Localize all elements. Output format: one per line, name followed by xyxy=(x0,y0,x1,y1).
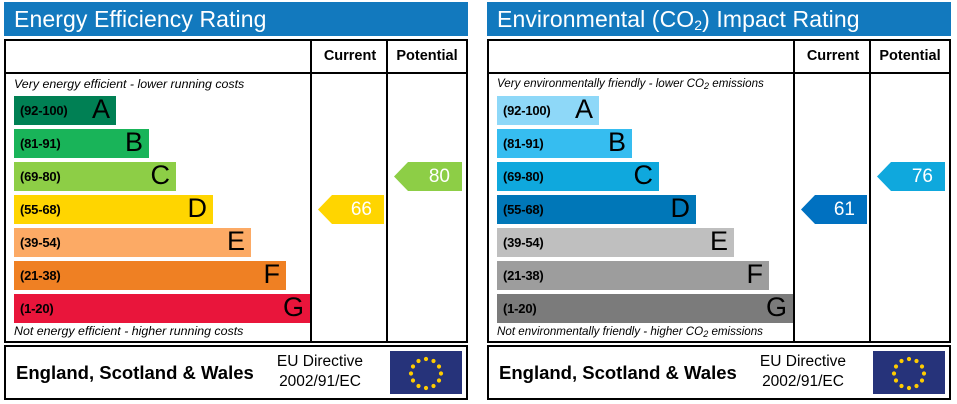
energy-efficiency-grid: Current Potential Very energy efficient … xyxy=(4,39,468,343)
band-letter-f: F xyxy=(747,261,764,291)
caption-very-efficient: Very energy efficient - lower running co… xyxy=(14,77,244,91)
band-row-f: (21-38) F xyxy=(14,261,286,290)
column-header-current: Current xyxy=(795,41,871,72)
band-row-g: (1-20) G xyxy=(497,294,793,323)
band-letter-g: G xyxy=(283,294,304,324)
band-row-e: (39-54) E xyxy=(14,228,251,257)
band-row-g: (1-20) G xyxy=(14,294,310,323)
column-header-current: Current xyxy=(312,41,388,72)
band-letter-e: E xyxy=(227,228,245,258)
column-divider-2 xyxy=(386,41,388,341)
panel-title-subscript: 2 xyxy=(694,17,702,33)
current-rating-value: 61 xyxy=(834,199,855,221)
band-letter-b: B xyxy=(125,129,143,159)
footer-directive-label: EU Directive 2002/91/EC xyxy=(260,352,380,392)
caption-very-friendly: Very environmentally friendly - lower CO… xyxy=(497,77,764,90)
band-row-e: (39-54) E xyxy=(497,228,734,257)
eu-flag-icon xyxy=(873,351,945,394)
environmental-impact-footer: England, Scotland & Wales EU Directive 2… xyxy=(487,345,951,400)
band-range-a: (92-100) xyxy=(503,103,551,118)
environmental-band-list: Very environmentally friendly - lower CO… xyxy=(489,74,793,341)
band-row-d: (55-68) D xyxy=(497,195,696,224)
potential-rating-arrow: 76 xyxy=(877,162,945,191)
band-range-d: (55-68) xyxy=(20,202,61,217)
column-header-potential: Potential xyxy=(388,41,466,72)
band-range-c: (69-80) xyxy=(20,169,61,184)
band-range-b: (81-91) xyxy=(20,136,61,151)
column-header-row: Current Potential xyxy=(6,41,466,74)
band-row-b: (81-91) B xyxy=(14,129,149,158)
band-row-f: (21-38) F xyxy=(497,261,769,290)
footer-directive-line1: EU Directive xyxy=(260,352,380,372)
current-rating-arrow: 61 xyxy=(801,195,867,224)
epc-certificate-graphic: Energy Efficiency Rating Current Potenti… xyxy=(0,0,957,404)
caption-top-subscript: 2 xyxy=(704,81,709,91)
current-rating-value: 66 xyxy=(351,199,372,221)
panel-title-text: Energy Efficiency Rating xyxy=(14,6,267,32)
footer-directive-line2: 2002/91/EC xyxy=(743,372,863,392)
energy-band-list: Very energy efficient - lower running co… xyxy=(6,74,310,341)
band-range-g: (1-20) xyxy=(20,301,53,316)
band-letter-d: D xyxy=(188,195,208,225)
band-row-d: (55-68) D xyxy=(14,195,213,224)
band-row-a: (92-100) A xyxy=(497,96,599,125)
footer-region-label: England, Scotland & Wales xyxy=(499,347,737,398)
band-range-g: (1-20) xyxy=(503,301,536,316)
current-rating-arrow: 66 xyxy=(318,195,384,224)
caption-not-friendly: Not environmentally friendly - higher CO… xyxy=(497,325,763,338)
band-range-b: (81-91) xyxy=(503,136,544,151)
energy-efficiency-footer: England, Scotland & Wales EU Directive 2… xyxy=(4,345,468,400)
band-range-e: (39-54) xyxy=(503,235,544,250)
caption-bottom-tail: emissions xyxy=(708,325,763,338)
caption-bottom-text: Not environmentally friendly - higher CO xyxy=(497,325,703,338)
eu-flag-icon xyxy=(390,351,462,394)
column-divider-1 xyxy=(310,41,312,341)
band-letter-c: C xyxy=(634,162,654,192)
environmental-impact-panel: Environmental (CO2) Impact Rating Curren… xyxy=(483,0,955,404)
environmental-impact-grid: Current Potential Very environmentally f… xyxy=(487,39,951,343)
band-row-a: (92-100) A xyxy=(14,96,116,125)
band-letter-c: C xyxy=(151,162,171,192)
column-header-potential: Potential xyxy=(871,41,949,72)
caption-bottom-subscript: 2 xyxy=(703,329,708,339)
caption-top-text: Very environmentally friendly - lower CO xyxy=(497,77,704,90)
caption-top-tail: emissions xyxy=(709,77,764,90)
potential-rating-arrow: 80 xyxy=(394,162,462,191)
panel-title-tail: ) Impact Rating xyxy=(702,6,859,32)
band-range-a: (92-100) xyxy=(20,103,68,118)
band-range-f: (21-38) xyxy=(20,268,61,283)
footer-directive-line2: 2002/91/EC xyxy=(260,372,380,392)
band-range-d: (55-68) xyxy=(503,202,544,217)
band-range-e: (39-54) xyxy=(20,235,61,250)
band-letter-d: D xyxy=(671,195,691,225)
band-range-c: (69-80) xyxy=(503,169,544,184)
environmental-impact-title: Environmental (CO2) Impact Rating xyxy=(487,2,951,36)
band-letter-a: A xyxy=(92,96,110,126)
band-row-b: (81-91) B xyxy=(497,129,632,158)
footer-directive-label: EU Directive 2002/91/EC xyxy=(743,352,863,392)
band-row-c: (69-80) C xyxy=(497,162,659,191)
band-letter-b: B xyxy=(608,129,626,159)
band-letter-e: E xyxy=(710,228,728,258)
band-letter-g: G xyxy=(766,294,787,324)
energy-efficiency-title: Energy Efficiency Rating xyxy=(4,2,468,36)
caption-not-efficient: Not energy efficient - higher running co… xyxy=(14,324,243,338)
energy-efficiency-panel: Energy Efficiency Rating Current Potenti… xyxy=(0,0,472,404)
column-divider-1 xyxy=(793,41,795,341)
potential-rating-value: 80 xyxy=(429,166,450,188)
band-range-f: (21-38) xyxy=(503,268,544,283)
footer-region-label: England, Scotland & Wales xyxy=(16,347,254,398)
band-row-c: (69-80) C xyxy=(14,162,176,191)
band-letter-f: F xyxy=(264,261,281,291)
potential-rating-value: 76 xyxy=(912,166,933,188)
column-divider-2 xyxy=(869,41,871,341)
band-letter-a: A xyxy=(575,96,593,126)
panel-title-text: Environmental (CO xyxy=(497,6,694,32)
column-header-row: Current Potential xyxy=(489,41,949,74)
footer-directive-line1: EU Directive xyxy=(743,352,863,372)
